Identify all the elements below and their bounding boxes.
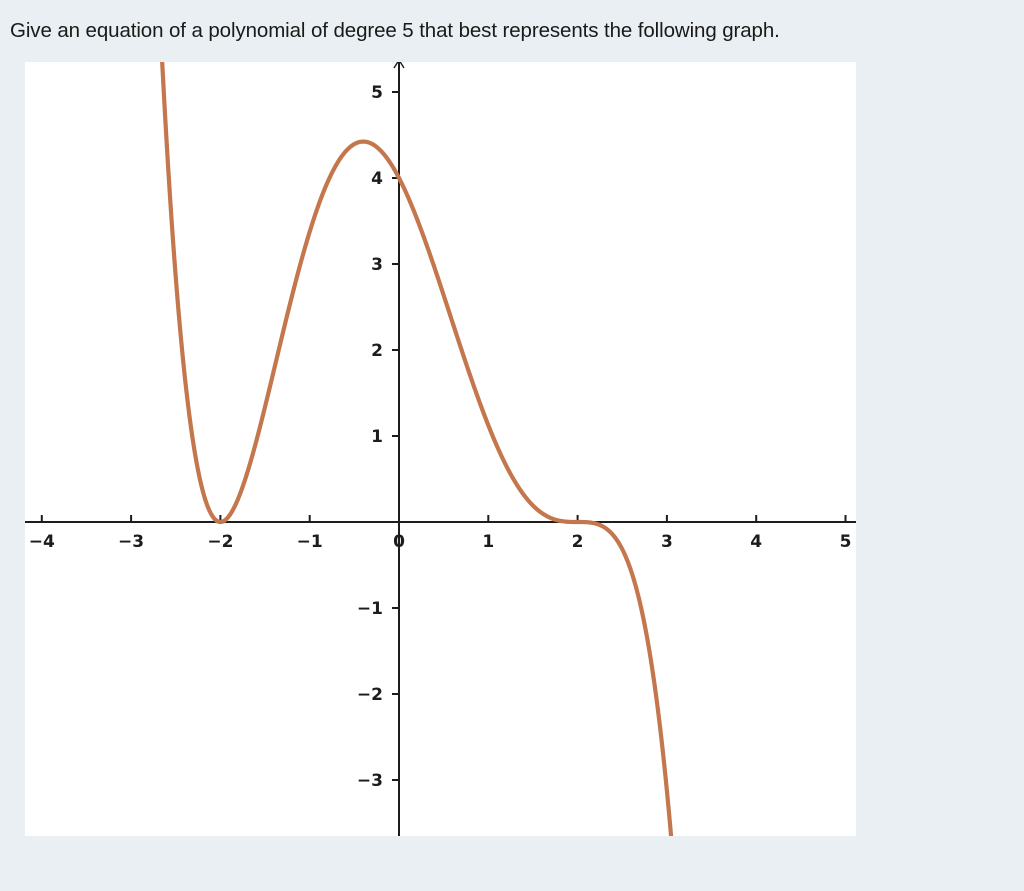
x-tick-label: 3 bbox=[661, 532, 673, 552]
curve-group bbox=[155, 62, 682, 836]
y-tick-label: −1 bbox=[357, 599, 383, 619]
x-tick-label: 5 bbox=[840, 532, 852, 552]
graph-figure: −4−3−2−1012345−3−2−112345 bbox=[25, 62, 856, 836]
y-tick-label: −3 bbox=[357, 771, 383, 791]
x-tick-label: −4 bbox=[29, 532, 55, 552]
y-tick-label: 1 bbox=[371, 427, 383, 447]
x-tick-label: 0 bbox=[393, 532, 405, 552]
x-tick-label: 4 bbox=[750, 532, 762, 552]
x-tick-label: 2 bbox=[572, 532, 584, 552]
x-tick-label: −1 bbox=[297, 532, 323, 552]
question-prompt: Give an equation of a polynomial of degr… bbox=[10, 18, 1014, 44]
y-tick-label: 3 bbox=[371, 255, 383, 275]
ticks-group bbox=[42, 92, 846, 780]
y-tick-label: 4 bbox=[371, 169, 383, 189]
y-tick-label: 2 bbox=[371, 341, 383, 361]
x-tick-label: 1 bbox=[482, 532, 494, 552]
x-tick-label: −3 bbox=[118, 532, 144, 552]
x-tick-label: −2 bbox=[207, 532, 233, 552]
y-tick-label: −2 bbox=[357, 685, 383, 705]
page-root: Give an equation of a polynomial of degr… bbox=[0, 0, 1024, 891]
axes-group bbox=[25, 62, 856, 836]
y-tick-label: 5 bbox=[371, 83, 383, 103]
graph-card: −4−3−2−1012345−3−2−112345 bbox=[25, 62, 856, 836]
polynomial-curve bbox=[155, 62, 682, 836]
tick-labels-group: −4−3−2−1012345−3−2−112345 bbox=[29, 83, 852, 791]
